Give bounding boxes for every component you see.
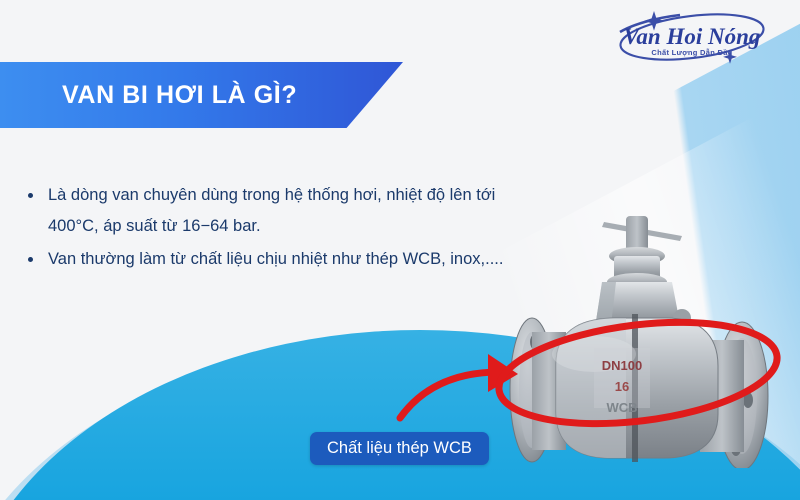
valve-stem — [602, 216, 682, 291]
slide-canvas: Van Hoi Nóng Chất Lượng Dẫn Đầu VAN BI H… — [0, 0, 800, 500]
page-title: VAN BI HƠI LÀ GÌ? — [62, 81, 297, 110]
ellipse-icon — [492, 312, 784, 434]
logo-tagline-text: Chất Lượng Dẫn Đầu — [651, 48, 732, 57]
status-badge[interactable]: Chất liệu thép WCB — [310, 432, 489, 465]
brand-logo: Van Hoi Nóng Chất Lượng Dẫn Đầu — [602, 6, 782, 68]
logo-mark-icon: Van Hoi Nóng Chất Lượng Dẫn Đầu — [602, 6, 782, 68]
red-ellipse-highlight — [492, 312, 784, 434]
logo-brand-text: Van Hoi Nóng — [624, 24, 761, 49]
bullet-item: Là dòng van chuyên dùng trong hệ thống h… — [26, 180, 546, 242]
badge-label: Chất liệu thép WCB — [327, 439, 472, 458]
bullet-list: Là dòng van chuyên dùng trong hệ thống h… — [26, 180, 546, 277]
bullet-item: Van thường làm từ chất liệu chịu nhiệt n… — [26, 244, 546, 275]
title-banner: VAN BI HƠI LÀ GÌ? — [0, 62, 403, 128]
